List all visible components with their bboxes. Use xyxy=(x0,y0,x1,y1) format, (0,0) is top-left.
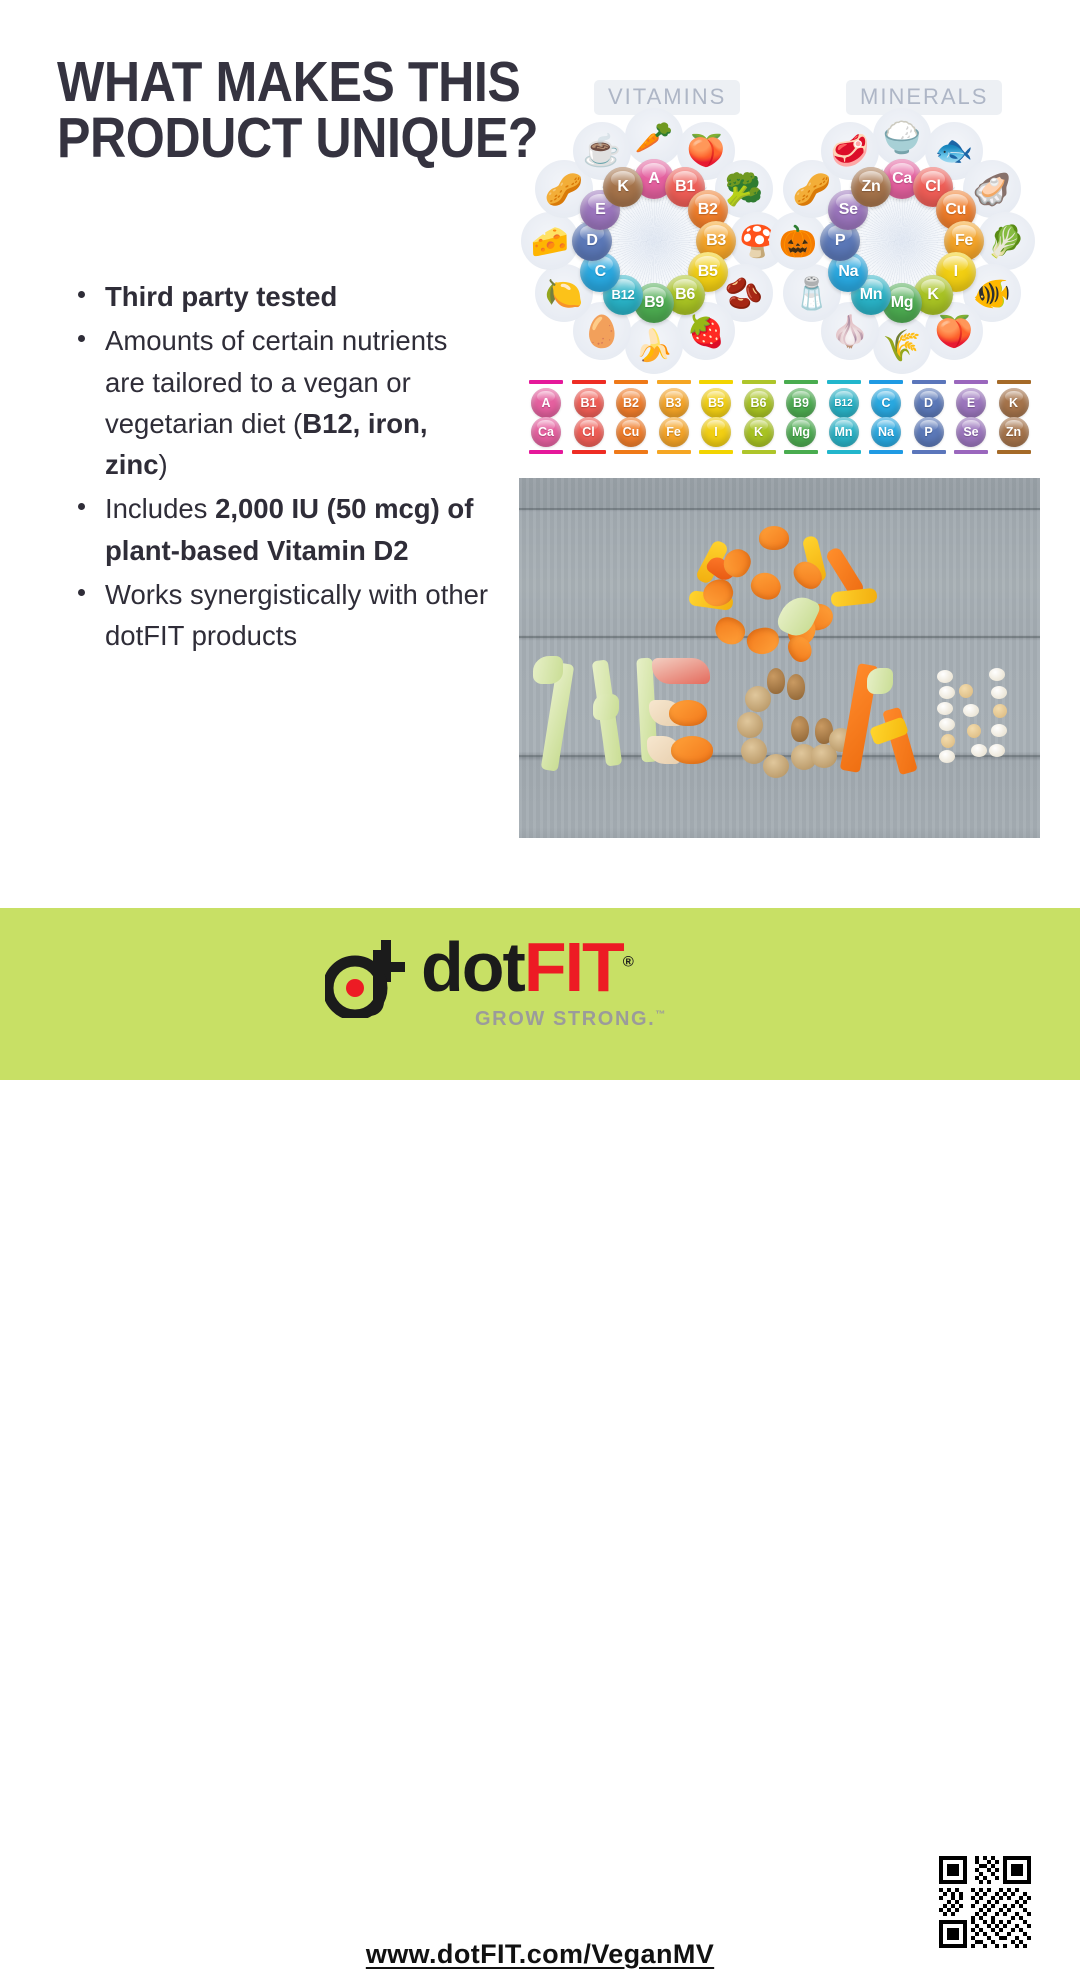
badge-column-b12-mn: B12Mn xyxy=(826,380,862,454)
badge-bar-top xyxy=(657,380,691,384)
badge-bar-bottom xyxy=(529,450,563,454)
brand-dot-text: dot xyxy=(421,928,524,1006)
badge-bar-bottom xyxy=(572,450,606,454)
badge-vitamin-c: C xyxy=(871,388,901,418)
badge-mineral-fe: Fe xyxy=(659,417,689,447)
badge-mineral-cu: Cu xyxy=(616,417,646,447)
badge-bar-bottom xyxy=(614,450,648,454)
badge-vitamin-b6: B6 xyxy=(744,388,774,418)
footer-bar: dotFIT® GROW STRONG.™ www.dotFIT.com/Veg… xyxy=(0,908,1080,1080)
letter-n-bean xyxy=(937,702,953,715)
badge-column-d-p: DP xyxy=(911,380,947,454)
plank-seam xyxy=(519,636,1040,638)
badge-bar-bottom xyxy=(912,450,946,454)
brand-fit-text: FIT xyxy=(524,928,623,1006)
food-icon-mg: 🌾 xyxy=(873,316,931,374)
badge-vitamin-b5: B5 xyxy=(701,388,731,418)
trademark-mark: ™ xyxy=(655,1009,667,1020)
badge-bar-top xyxy=(742,380,776,384)
plank-seam xyxy=(519,508,1040,510)
badge-bar-bottom xyxy=(997,450,1031,454)
badge-mineral-mn: Mn xyxy=(829,417,859,447)
letter-n-chickpea xyxy=(967,724,981,738)
letter-n-chickpea xyxy=(959,684,973,698)
badge-mineral-zn: Zn xyxy=(999,417,1029,447)
badge-column-c-na: CNa xyxy=(868,380,904,454)
badge-vitamin-a: A xyxy=(531,388,561,418)
badge-column-b9-mg: B9Mg xyxy=(783,380,819,454)
badge-vitamin-e: E xyxy=(956,388,986,418)
badge-mineral-k: K xyxy=(744,417,774,447)
badge-bar-top xyxy=(912,380,946,384)
food-icon-p: 🎃 xyxy=(769,212,827,270)
badge-bar-top xyxy=(954,380,988,384)
vitamins-wheel: 🥕A🍑B1🥦B2🍄B3🫘B5🍓B6🍌B9🥚B12🍋C🧀D🥜E☕K xyxy=(529,116,779,366)
badge-column-k-zn: KZn xyxy=(996,380,1032,454)
bullet-text: Works synergistically with other dotFIT … xyxy=(105,579,488,651)
brand-tagline: GROW STRONG.™ xyxy=(475,1008,667,1031)
vitamins-label: VITAMINS xyxy=(594,80,740,115)
nutrient-badge-strip: ACaB1ClB2CuB3FeB5IB6KB9MgB12MnCNaDPESeKZ… xyxy=(528,380,1038,454)
mandarin-segment xyxy=(759,526,789,550)
letter-g-almond xyxy=(767,668,785,694)
letter-n-bean xyxy=(971,744,987,757)
minerals-label: MINERALS xyxy=(846,80,1002,115)
df-monogram-icon xyxy=(325,936,411,1018)
badge-bar-top xyxy=(869,380,903,384)
letter-n-bean xyxy=(989,668,1005,681)
badge-bar-bottom xyxy=(657,450,691,454)
bullet-text: ) xyxy=(158,449,167,480)
badge-mineral-mg: Mg xyxy=(786,417,816,447)
qr-code-card[interactable] xyxy=(925,1842,1045,1962)
letter-n-bean xyxy=(989,744,1005,757)
registered-mark: ® xyxy=(623,954,632,971)
letter-g-almond xyxy=(791,716,809,742)
food-icon-d: 🧀 xyxy=(521,212,579,270)
vegan-food-photo xyxy=(519,478,1040,838)
badge-bar-top xyxy=(827,380,861,384)
nutrient-wheels: VITAMINS MINERALS 🥕A🍑B1🥦B2🍄B3🫘B5🍓B6🍌B9🥚B… xyxy=(519,80,1040,380)
badge-column-b2-cu: B2Cu xyxy=(613,380,649,454)
poster-canvas: WHAT MAKES THIS PRODUCT UNIQUE? Third pa… xyxy=(0,0,1080,1080)
letter-g-walnut xyxy=(763,754,789,778)
badge-bar-bottom xyxy=(869,450,903,454)
website-url[interactable]: www.dotFIT.com/VeganMV xyxy=(0,1939,1080,1970)
badge-bar-top xyxy=(699,380,733,384)
badge-column-b1-cl: B1Cl xyxy=(571,380,607,454)
letter-e-mandarin xyxy=(669,700,707,726)
bullet-item-3: Includes 2,000 IU (50 mcg) of plant-base… xyxy=(72,488,492,571)
badge-vitamin-b2: B2 xyxy=(616,388,646,418)
bullet-marker-icon xyxy=(78,291,85,298)
badge-bar-top xyxy=(529,380,563,384)
letter-n-bean xyxy=(991,724,1007,737)
badge-bar-top xyxy=(572,380,606,384)
bullet-text-bold: Third party tested xyxy=(105,281,337,312)
letter-n-bean xyxy=(939,718,955,731)
badge-mineral-p: P xyxy=(914,417,944,447)
letter-g-walnut xyxy=(745,686,771,712)
headline-line-1: WHAT MAKES THIS xyxy=(57,55,471,111)
food-icon-ca: 🍚 xyxy=(873,108,931,166)
food-icon-fe: 🥬 xyxy=(977,212,1035,270)
badge-bar-bottom xyxy=(742,450,776,454)
feature-bullet-list: Third party testedAmounts of certain nut… xyxy=(72,276,492,659)
badge-column-a-ca: ACa xyxy=(528,380,564,454)
badge-bar-bottom xyxy=(784,450,818,454)
badge-vitamin-k: K xyxy=(999,388,1029,418)
badge-bar-bottom xyxy=(699,450,733,454)
letter-e-apple xyxy=(652,658,710,684)
bullet-marker-icon xyxy=(78,503,85,510)
badge-mineral-na: Na xyxy=(871,417,901,447)
food-icon-b9: 🍌 xyxy=(625,316,683,374)
badge-bar-top xyxy=(784,380,818,384)
bullet-item-2: Amounts of certain nutrients are tailore… xyxy=(72,320,492,485)
bullet-item-1: Third party tested xyxy=(72,276,492,317)
letter-g-almond xyxy=(787,674,805,700)
letter-n-bean xyxy=(939,686,955,699)
badge-bar-bottom xyxy=(827,450,861,454)
letter-n-bean xyxy=(937,670,953,683)
headline-line-2: PRODUCT UNIQUE? xyxy=(57,111,471,167)
qr-code[interactable] xyxy=(939,1856,1031,1948)
bullet-marker-icon xyxy=(78,589,85,596)
bullet-marker-icon xyxy=(78,335,85,342)
minerals-wheel: 🍚Ca🐟Cl🦪Cu🥬Fe🐠I🍑K🌾Mg🧄Mn🧂Na🎃P🥜Se🥩Zn xyxy=(777,116,1027,366)
letter-n-bean xyxy=(963,704,979,717)
celery-leaves xyxy=(533,656,563,684)
badge-vitamin-b12: B12 xyxy=(829,388,859,418)
dotfit-logo: dotFIT® GROW STRONG.™ xyxy=(325,928,755,1028)
letter-n-chickpea xyxy=(941,734,955,748)
letter-g-walnut xyxy=(741,738,767,764)
letter-n-chickpea xyxy=(993,704,1007,718)
badge-column-b3-fe: B3Fe xyxy=(656,380,692,454)
badge-bar-bottom xyxy=(954,450,988,454)
bullet-text: Includes xyxy=(105,493,215,524)
badge-vitamin-b1: B1 xyxy=(574,388,604,418)
brand-wordmark: dotFIT® xyxy=(421,932,632,1002)
badge-vitamin-d: D xyxy=(914,388,944,418)
food-icon-a: 🥕 xyxy=(625,108,683,166)
badge-column-e-se: ESe xyxy=(953,380,989,454)
celery-leaves xyxy=(593,694,619,720)
badge-mineral-ca: Ca xyxy=(531,417,561,447)
page-title: WHAT MAKES THIS PRODUCT UNIQUE? xyxy=(57,55,471,167)
tagline-text: GROW STRONG. xyxy=(475,1008,655,1030)
badge-bar-top xyxy=(997,380,1031,384)
badge-mineral-cl: Cl xyxy=(574,417,604,447)
letter-n-bean xyxy=(991,686,1007,699)
bullet-item-4: Works synergistically with other dotFIT … xyxy=(72,574,492,657)
letter-e-mandarin xyxy=(671,736,713,764)
letter-g-walnut xyxy=(737,712,763,738)
badge-vitamin-b9: B9 xyxy=(786,388,816,418)
letter-n-bean xyxy=(939,750,955,763)
badge-bar-top xyxy=(614,380,648,384)
badge-column-b5-i: B5I xyxy=(698,380,734,454)
badge-column-b6-k: B6K xyxy=(741,380,777,454)
badge-vitamin-b3: B3 xyxy=(659,388,689,418)
badge-mineral-se: Se xyxy=(956,417,986,447)
badge-mineral-i: I xyxy=(701,417,731,447)
celery-leaves xyxy=(867,668,893,694)
